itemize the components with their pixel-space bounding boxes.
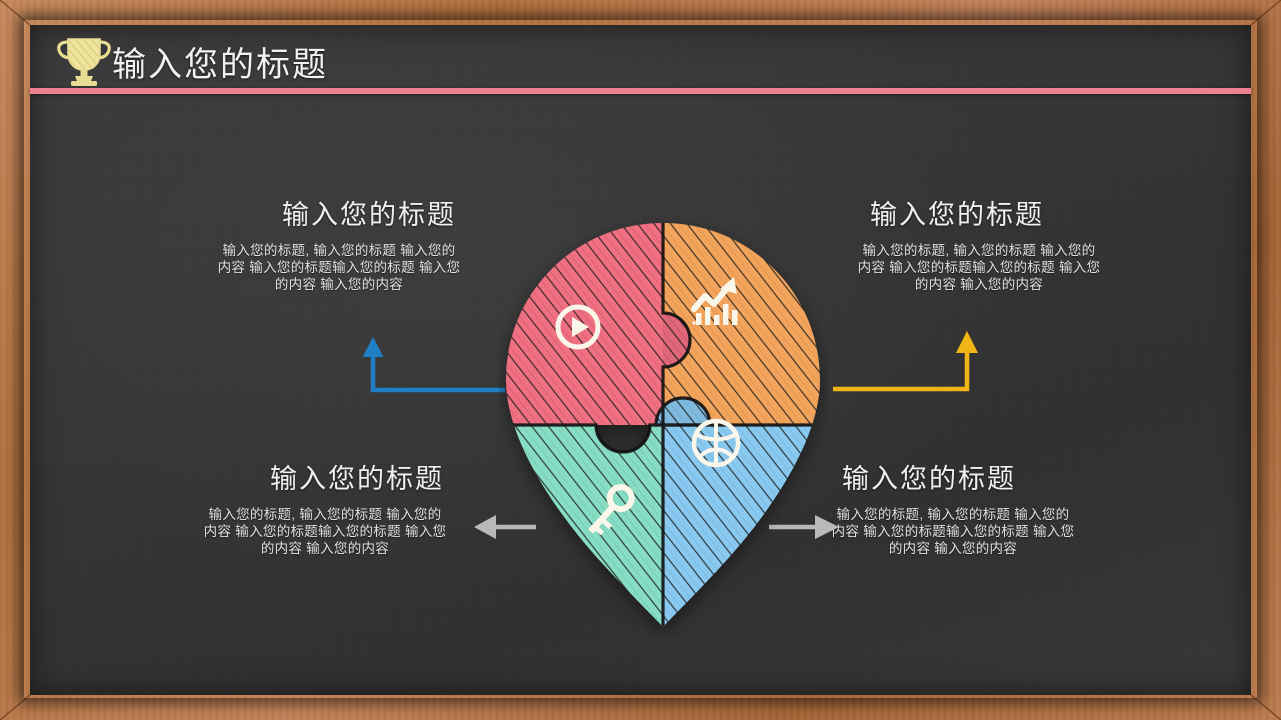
slide-header: 输入您的标题 [30, 25, 1251, 95]
page-title: 输入您的标题 [112, 37, 328, 86]
pin-quadrant-top-left[interactable] [498, 215, 690, 425]
center-pin-puzzle-graphic [498, 215, 828, 635]
chalkboard: 输入您的标题 输入您的标题 输入您的标题, 输入您的标题 输入您的内容 输入您的… [30, 25, 1251, 695]
content-block-bottom-left: 输入您的标题 输入您的标题, 输入您的标题 输入您的内容 输入您的标题输入您的标… [202, 457, 448, 557]
block-body: 输入您的标题, 输入您的标题 输入您的内容 输入您的标题输入您的标题 输入您的内… [202, 506, 448, 557]
arrow-up-left-blue-icon [360, 333, 510, 403]
block-body: 输入您的标题, 输入您的标题 输入您的内容 输入您的标题输入您的标题 输入您的内… [216, 242, 462, 293]
block-heading: 输入您的标题 [856, 193, 1102, 232]
pin-quadrant-bottom-right[interactable] [656, 398, 828, 635]
content-block-bottom-right: 输入您的标题 输入您的标题, 输入您的标题 输入您的内容 输入您的标题输入您的标… [830, 457, 1076, 557]
title-divider-rule [30, 88, 1251, 94]
pin-quadrant-bottom-left[interactable] [498, 425, 663, 635]
arrow-up-right-yellow-icon [830, 325, 980, 403]
block-heading: 输入您的标题 [830, 457, 1076, 496]
trophy-icon [54, 33, 114, 89]
content-block-top-left: 输入您的标题 输入您的标题, 输入您的标题 输入您的内容 输入您的标题输入您的标… [216, 193, 462, 293]
content-block-top-right: 输入您的标题 输入您的标题, 输入您的标题 输入您的内容 输入您的标题输入您的标… [856, 193, 1102, 293]
block-body: 输入您的标题, 输入您的标题 输入您的内容 输入您的标题输入您的标题 输入您的内… [856, 242, 1102, 293]
slide-root: 输入您的标题 输入您的标题 输入您的标题, 输入您的标题 输入您的内容 输入您的… [0, 0, 1281, 720]
block-heading: 输入您的标题 [202, 457, 448, 496]
block-heading: 输入您的标题 [216, 193, 462, 232]
block-body: 输入您的标题, 输入您的标题 输入您的内容 输入您的标题输入您的标题 输入您的内… [830, 506, 1076, 557]
